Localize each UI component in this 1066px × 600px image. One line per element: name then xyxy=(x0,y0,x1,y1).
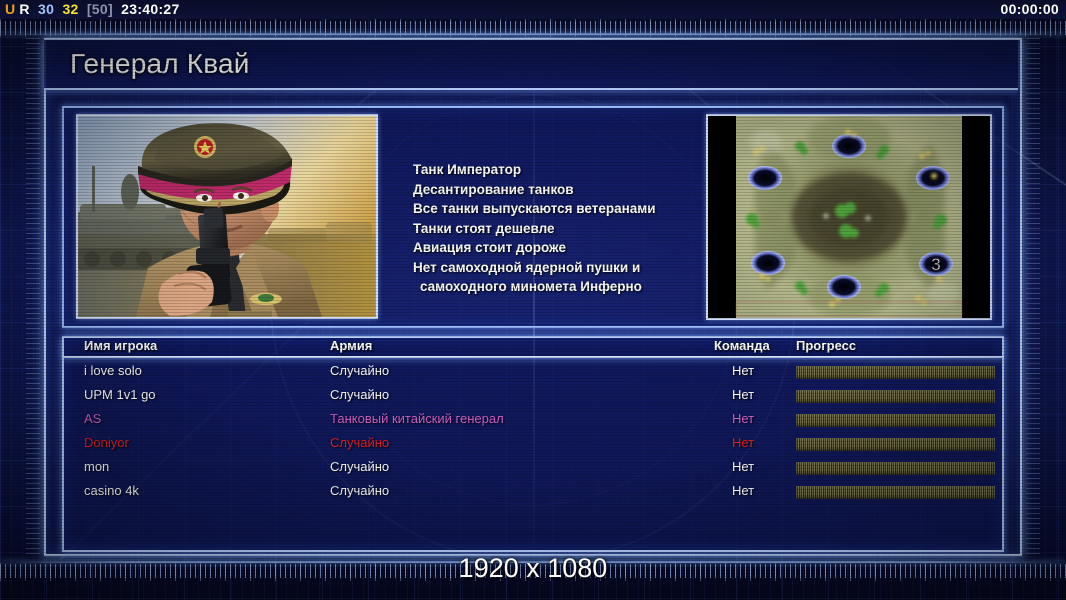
player-progress-bar xyxy=(796,414,995,427)
hud-seg-ping: 30 xyxy=(38,1,54,17)
column-header-army: Армия xyxy=(330,338,372,353)
bonus-line: Танк Император xyxy=(413,160,693,180)
hud-status-text: UR 30 32 [50] 23:40:27 xyxy=(5,1,184,17)
player-name: Doniyor xyxy=(84,435,129,450)
player-name: mon xyxy=(84,459,109,474)
player-army[interactable]: Случайно xyxy=(330,483,389,498)
game-lobby-screen: UR 30 32 [50] 23:40:27 00:00:00 Генерал … xyxy=(0,0,1066,600)
player-progress-bar xyxy=(796,462,995,475)
left-ruler-ticks xyxy=(26,38,40,558)
hud-seg-r: R xyxy=(19,1,29,17)
bonus-line: Авиация стоит дороже xyxy=(413,238,693,258)
table-row[interactable]: i love solo Случайно Нет xyxy=(62,360,1004,384)
table-row[interactable]: AS Танковый китайский генерал Нет xyxy=(62,408,1004,432)
player-progress-bar xyxy=(796,366,995,379)
bonus-line: Десантирование танков xyxy=(413,180,693,200)
player-team[interactable]: Нет xyxy=(732,411,754,426)
table-row[interactable]: UPM 1v1 go Случайно Нет xyxy=(62,384,1004,408)
player-name: UPM 1v1 go xyxy=(84,387,156,402)
player-army[interactable]: Танковый китайский генерал xyxy=(330,411,504,426)
hud-seg-fps: 32 xyxy=(62,1,78,17)
svg-text:3: 3 xyxy=(931,255,940,274)
player-army[interactable]: Случайно xyxy=(330,387,389,402)
table-row[interactable]: Doniyor Случайно Нет xyxy=(62,432,1004,456)
hud-seg-clock: 23:40:27 xyxy=(121,1,179,17)
column-header-progress: Прогресс xyxy=(796,338,856,353)
player-progress-bar xyxy=(796,390,995,403)
player-progress-bar xyxy=(796,486,995,499)
map-preview[interactable]: 3 xyxy=(706,114,992,320)
hud-top-bar: UR 30 32 [50] 23:40:27 00:00:00 xyxy=(0,0,1066,19)
player-name: AS xyxy=(84,411,101,426)
page-title: Генерал Квай xyxy=(70,48,250,80)
bonus-line: Все танки выпускаются ветеранами xyxy=(413,199,693,219)
player-progress-fill xyxy=(796,366,995,379)
column-header-team: Команда xyxy=(714,338,770,353)
player-name: i love solo xyxy=(84,363,142,378)
player-army[interactable]: Случайно xyxy=(330,435,389,450)
player-team[interactable]: Нет xyxy=(732,483,754,498)
column-header-name: Имя игрока xyxy=(84,338,157,353)
player-progress-fill xyxy=(796,414,995,427)
hud-seg-u: U xyxy=(5,1,15,17)
hud-seg-limit: [50] xyxy=(87,1,113,17)
player-progress-fill xyxy=(796,486,995,499)
top-ruler-major-ticks xyxy=(0,19,1066,37)
player-team[interactable]: Нет xyxy=(732,459,754,474)
general-bonus-list: Танк Император Десантирование танков Все… xyxy=(413,160,693,297)
top-ruler-ticks xyxy=(0,21,1066,35)
player-list-header: Имя игрока Армия Команда Прогресс xyxy=(62,336,1004,358)
player-team[interactable]: Нет xyxy=(732,363,754,378)
player-rows: i love solo Случайно Нет UPM 1v1 go Случ… xyxy=(62,360,1004,504)
table-row[interactable]: mon Случайно Нет xyxy=(62,456,1004,480)
table-row[interactable]: casino 4k Случайно Нет xyxy=(62,480,1004,504)
right-ruler-ticks xyxy=(1026,38,1040,558)
player-progress-fill xyxy=(796,438,995,451)
player-name: casino 4k xyxy=(84,483,139,498)
top-divider-line xyxy=(0,33,1066,35)
bonus-line: самоходного миномета Инферно xyxy=(413,277,693,297)
hud-timer: 00:00:00 xyxy=(1001,1,1059,17)
general-portrait xyxy=(76,114,378,319)
player-team[interactable]: Нет xyxy=(732,387,754,402)
player-team[interactable]: Нет xyxy=(732,435,754,450)
bonus-line: Танки стоят дешевле xyxy=(413,219,693,239)
player-army[interactable]: Случайно xyxy=(330,459,389,474)
bonus-line: Нет самоходной ядерной пушки и xyxy=(413,258,693,278)
player-army[interactable]: Случайно xyxy=(330,363,389,378)
player-progress-bar xyxy=(796,438,995,451)
player-progress-fill xyxy=(796,390,995,403)
player-progress-fill xyxy=(796,462,995,475)
resolution-label: 1920 x 1080 xyxy=(0,553,1066,584)
